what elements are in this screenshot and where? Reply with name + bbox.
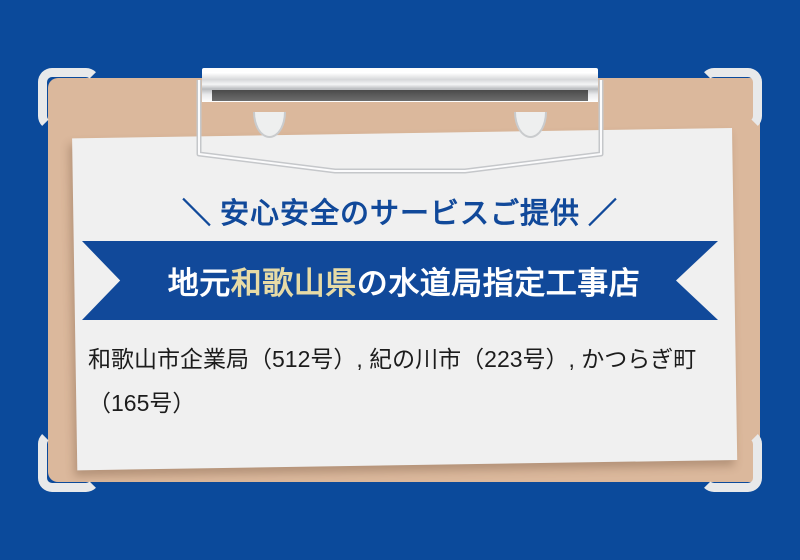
ribbon-suffix: の水道局指定工事店 [357, 266, 641, 301]
clip-dark-strip [212, 90, 588, 101]
body-text: 和歌山市企業局（512号）, 紀の川市（223号）, かつらぎ町（165号） [88, 337, 718, 425]
corner-bracket-top-right [700, 68, 762, 130]
corner-bracket-bottom-right [700, 430, 762, 492]
ribbon-banner: 地元和歌山県の水道局指定工事店 [82, 241, 718, 320]
headline-slash-left-icon: ＼ [182, 190, 212, 232]
ribbon-prefix: 地元 [168, 266, 231, 301]
ribbon-highlight-prefecture: 和歌山県 [231, 266, 357, 301]
headline: ＼安心安全のサービスご提供／ [0, 190, 800, 232]
corner-bracket-bottom-left [38, 430, 100, 492]
headline-text: 安心安全のサービスご提供 [220, 198, 580, 230]
ribbon-text: 地元和歌山県の水道局指定工事店 [160, 258, 641, 303]
corner-bracket-top-left [38, 68, 100, 130]
headline-slash-right-icon: ／ [588, 190, 618, 232]
clipboard-clip-icon [185, 68, 615, 176]
